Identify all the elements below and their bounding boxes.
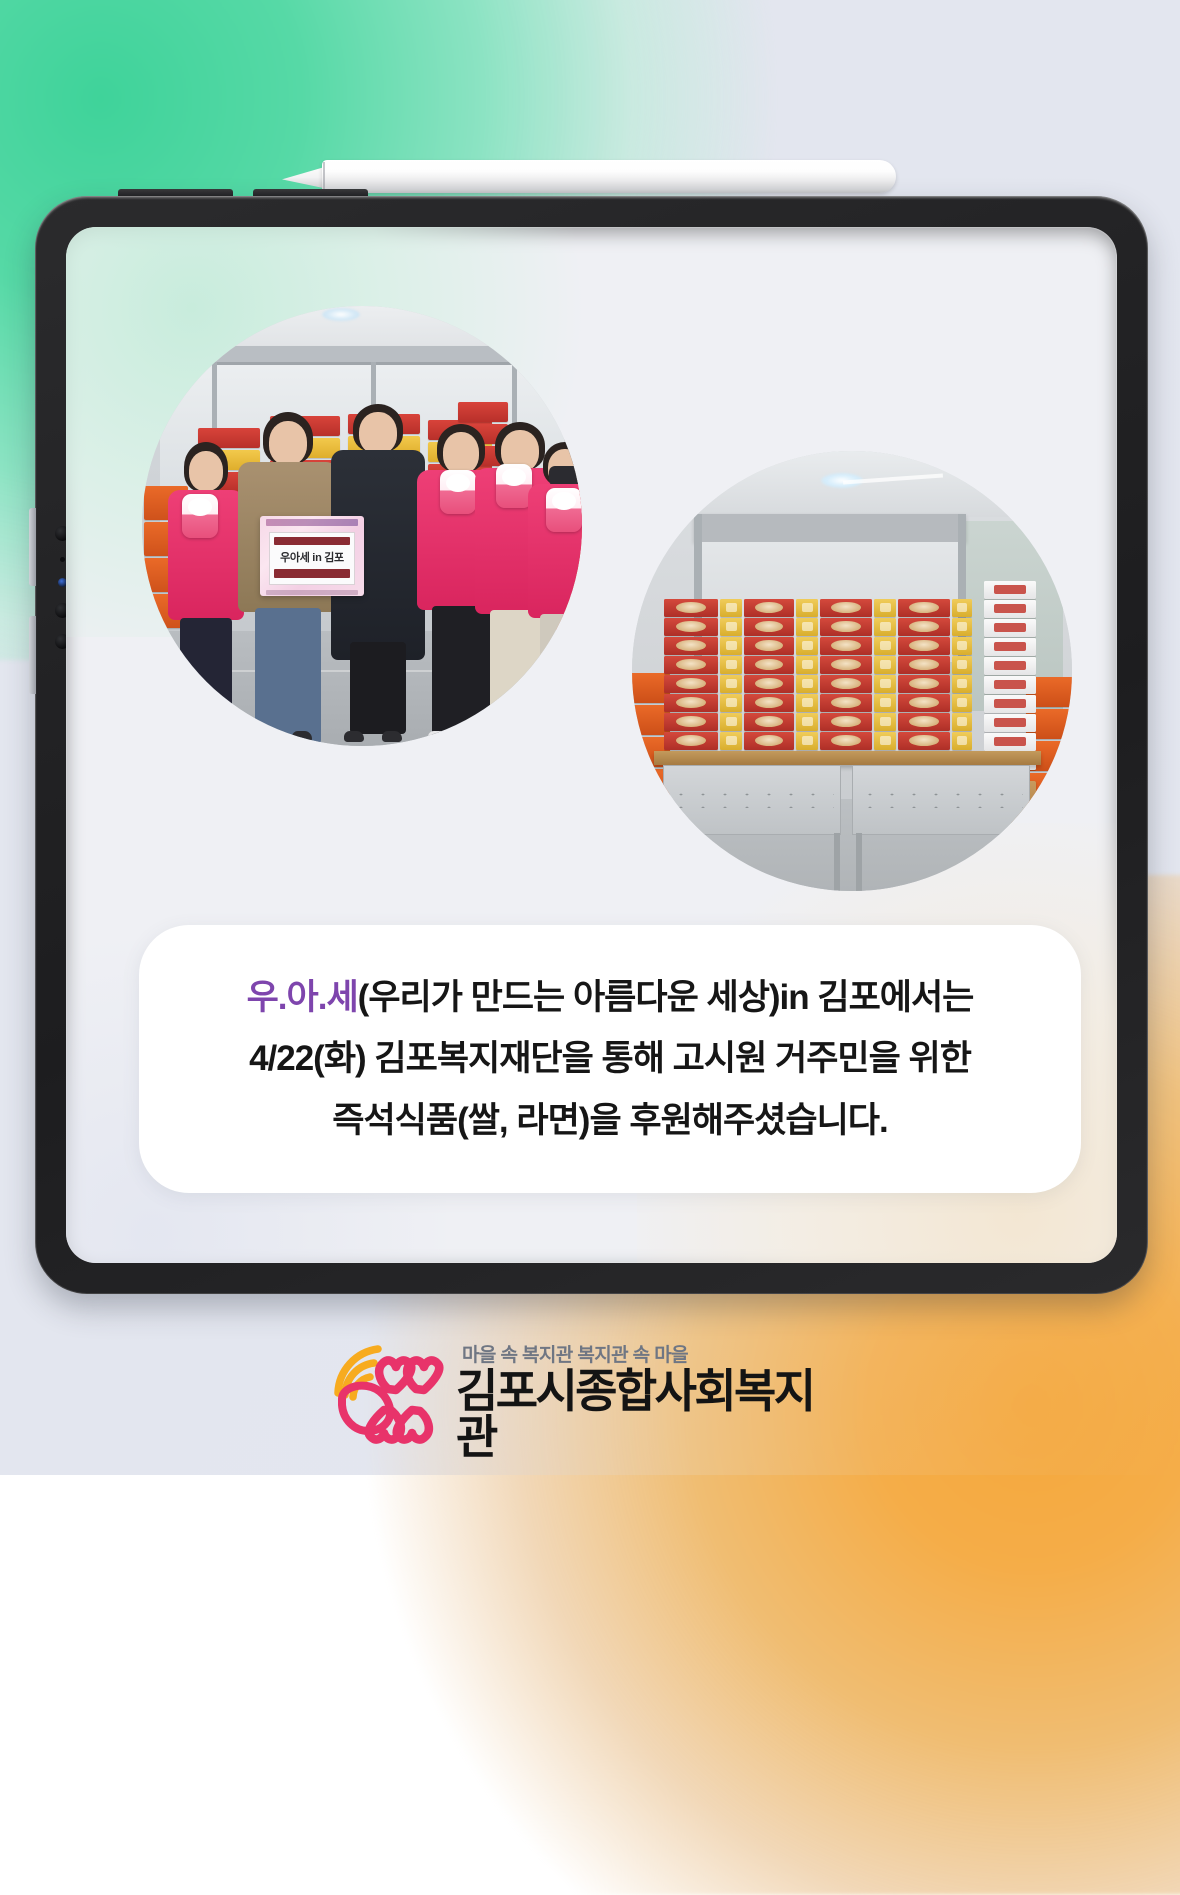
- banner-footer-logos: [266, 590, 358, 595]
- stylus-seam: [323, 162, 325, 190]
- tablet-volume-down-button[interactable]: [29, 616, 36, 694]
- banner-detail-bar: [274, 569, 350, 578]
- ramen-stack: [820, 599, 872, 750]
- footer-organization-name: 김포시종합사회복지관: [456, 1368, 852, 1460]
- clover-heart-logo-icon: [332, 1343, 444, 1453]
- microphone-icon: [60, 557, 65, 562]
- ceiling-beam: [186, 346, 529, 362]
- stacked-instant-food-photo[interactable]: [632, 451, 1072, 891]
- banner-subtitle-bar: [274, 537, 350, 545]
- ramen-stack: [796, 599, 818, 750]
- footer-tagline: 마을 속 복지관 복지관 속 마을: [462, 1340, 852, 1367]
- ramen-stack: [664, 599, 718, 750]
- ramen-stack: [952, 599, 972, 750]
- person: [526, 442, 582, 742]
- table-panel: [663, 765, 841, 835]
- banner-title: 우아세 in 김포: [270, 549, 354, 565]
- table-leg: [856, 833, 862, 891]
- message-line-1: 우.아.세(우리가 만드는 아름다운 세상)in 김포에서는: [247, 971, 974, 1024]
- group-donation-photo[interactable]: 우아세 in 김포: [142, 306, 582, 746]
- message-line-3: 즉석식품(쌀, 라면)을 후원해주셨습니다.: [332, 1094, 887, 1147]
- table-leg: [834, 833, 840, 891]
- ramen-stack: [744, 599, 794, 750]
- message-line-1-rest: (우리가 만드는 아름다운 세상)in 김포에서는: [358, 978, 974, 1017]
- table-leg: [667, 833, 673, 891]
- banner-inner-panel: 우아세 in 김포: [269, 532, 355, 585]
- tablet-device: 우아세 in 김포: [35, 196, 1148, 1294]
- face-mask: [549, 466, 581, 486]
- photo-scene-right: [632, 451, 1072, 891]
- banner-top-text: [266, 519, 358, 526]
- donation-banner-sign: 우아세 in 김포: [260, 516, 364, 596]
- tablet-screen: 우아세 in 김포: [66, 227, 1117, 1263]
- ramen-stack: [874, 599, 896, 750]
- message-line-2: 4/22(화) 김포복지재단을 통해 고시원 거주민을 위한: [249, 1032, 971, 1085]
- stylus-body: [322, 160, 896, 193]
- ramen-stack: [984, 581, 1036, 770]
- ramen-stack: [720, 599, 742, 750]
- message-card: 우.아.세(우리가 만드는 아름다운 세상)in 김포에서는 4/22(화) 김…: [139, 925, 1081, 1193]
- table-panel: [852, 765, 1030, 835]
- footer-logo: 마을 속 복지관 복지관 속 마을 김포시종합사회복지관: [332, 1339, 852, 1457]
- message-accent: 우.아.세: [247, 978, 358, 1017]
- ramen-stack: [898, 599, 950, 750]
- folding-table-top: [654, 751, 1041, 765]
- wall-header-band: [694, 514, 967, 542]
- table-leg: [1024, 833, 1030, 891]
- tablet-volume-up-button[interactable]: [29, 508, 36, 586]
- footer-logo-text: 마을 속 복지관 복지관 속 마을 김포시종합사회복지관: [456, 1336, 852, 1460]
- stylus-pen: [282, 159, 896, 197]
- photo-scene-left: 우아세 in 김포: [142, 306, 582, 746]
